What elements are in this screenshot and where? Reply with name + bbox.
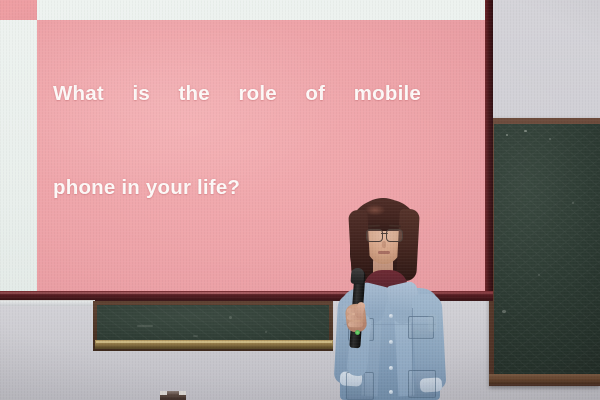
jacket-button-2: [389, 340, 393, 344]
presenter-mouth: [378, 251, 390, 254]
presenter-hair-right: [396, 209, 420, 282]
slide-text-line-1: What is the role of mobile: [53, 70, 421, 164]
chalkboard-right: [494, 124, 600, 376]
jacket-hip-pocket-left: [346, 372, 374, 400]
eyeglasses-lens-left: [366, 229, 383, 242]
slide-question-text: What is the role of mobile phone in your…: [53, 70, 421, 211]
jacket-button-1: [389, 314, 393, 318]
eyeglasses-icon: [366, 229, 403, 241]
classroom-presentation-photo: What is the role of mobile phone in your…: [0, 0, 600, 400]
small-object: [160, 391, 186, 400]
eyeglasses-lens-right: [386, 229, 403, 242]
microphone-head-icon: [350, 268, 364, 285]
jacket-button-4: [389, 390, 393, 394]
screen-lower-edge-strip: [0, 300, 95, 306]
presenter-nose: [382, 241, 386, 248]
slide-corner-block: [0, 0, 37, 20]
chalkboard-ledge-highlight: [96, 341, 332, 343]
jacket-distress-patch-c: [428, 314, 437, 332]
chalkboard-lower: [97, 305, 329, 341]
presenter: [320, 196, 460, 400]
presenter-finger-3: [348, 322, 363, 327]
chalkboard-right-ledge: [489, 374, 600, 384]
jacket-button-3: [389, 366, 393, 370]
screen-frame-right: [485, 0, 493, 300]
jacket-seam-right: [412, 308, 413, 396]
